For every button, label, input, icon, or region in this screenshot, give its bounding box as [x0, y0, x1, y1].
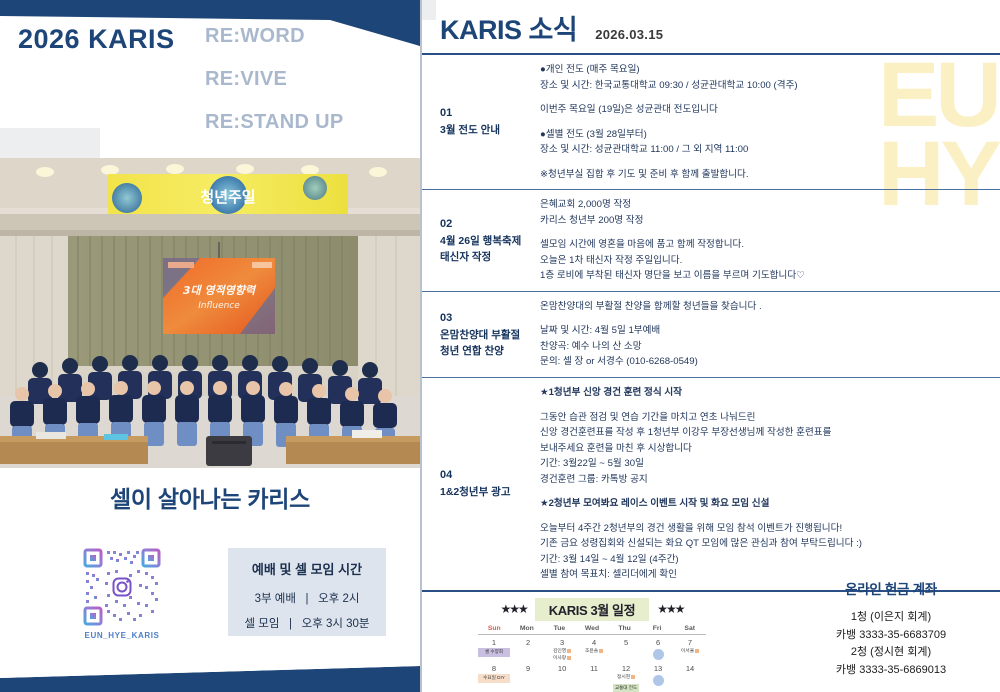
news-line: 카리스 청년부 200명 작정	[540, 213, 988, 229]
re-item-1: RE:VIVE	[205, 69, 344, 89]
march-calendar: ★★★ KARIS 3월 일정 ★★★ Sun Mon Tue Wed Thu …	[478, 598, 706, 692]
youth-group-photo: 청년주일	[0, 158, 420, 468]
calendar-day-cell: 11	[578, 661, 610, 692]
calendar-day-cell: 10	[546, 661, 578, 692]
calendar-day-number: 9	[510, 664, 546, 673]
calendar-day-cell: 4조윤솔	[578, 635, 610, 661]
calendar-event-chip: 셀 수양회	[478, 648, 510, 657]
stars-right-icon: ★★★	[657, 603, 683, 615]
qr-code[interactable]	[83, 548, 161, 626]
news-row: 02 4월 26일 행복축제 태신자 작정 은혜교회 2,000명 작정 카리스…	[422, 190, 1000, 292]
calendar-day-cell: 3김인영이사랑	[546, 635, 578, 661]
calendar-day-cell: 8수요일 DIY	[478, 661, 510, 692]
news-line: ※청년부실 집합 후 기도 및 준비 후 함께 출발합니다.	[540, 167, 988, 183]
spacer	[540, 512, 988, 521]
calendar-day-cell: 9	[510, 661, 546, 692]
calendar-day-number: 13	[642, 664, 674, 673]
calendar-header: ★★★ KARIS 3월 일정 ★★★	[478, 598, 706, 621]
worship-time-value-0: 오후 2시	[318, 593, 359, 605]
newsletter-page: 2026 KARIS RE:WORD RE:VIVE RE:STAND UP	[0, 0, 1000, 692]
worship-time-name-0: 3부 예배	[255, 593, 296, 605]
news-row-number: 01	[440, 105, 540, 122]
news-line: 오늘은 1차 태신자 작정 주일입니다.	[540, 253, 988, 269]
offering-line: 2청 (정시현 회계)	[796, 644, 986, 662]
news-row-number: 04	[440, 467, 540, 484]
calendar-day-cell: 2	[510, 635, 546, 661]
calendar-day-number: 4	[578, 638, 610, 647]
worship-time-sep-0: |	[306, 593, 309, 605]
calendar-dow: Sat	[673, 625, 706, 632]
news-line: 기존 금요 성령집회와 신설되는 화요 QT 모임에 많은 관심과 참여 부탁드…	[540, 536, 988, 552]
instagram-qr-block[interactable]: EUN_HYE_KARIS	[62, 548, 182, 640]
news-row-index: 01 3월 전도 안내	[422, 55, 540, 189]
news-line: 신앙 경건훈련표를 작성 후 1청년부 이강우 부장선생님께 작성한 훈련표를	[540, 425, 988, 441]
news-row-body: ★1청년부 신앙 경건 훈련 정식 시작 그동안 습관 점검 및 연습 기간을 …	[540, 378, 1000, 590]
news-line: 1층 로비에 부착된 태신자 명단을 보고 이름을 부르며 기도합니다♡	[540, 268, 988, 284]
calendar-day-number: 1	[478, 638, 510, 647]
calendar-day-number: 11	[578, 664, 610, 673]
worship-time-row-0: 3부 예배 | 오후 2시	[236, 590, 378, 606]
calendar-dow: Thu	[608, 625, 641, 632]
page-title: 2026 KARIS	[18, 26, 175, 53]
calendar-grid: 1셀 수양회23김인영이사랑4조윤솔567이서율8수요일 DIY9101112정…	[478, 635, 706, 692]
news-row: 04 1&2청년부 광고 ★1청년부 신앙 경건 훈련 정식 시작 그동안 습관…	[422, 378, 1000, 592]
svg-text:3대 영적영향력: 3대 영적영향력	[183, 284, 257, 297]
calendar-day-cell: 6	[642, 635, 674, 661]
worship-times-box: 예배 및 셀 모임 시간 3부 예배 | 오후 2시 셀 모임 | 오후 3시 …	[228, 548, 386, 636]
offering-title: 온라인 헌금 계좌	[796, 578, 986, 598]
spacer	[540, 487, 988, 496]
news-row-label: 1&2청년부 광고	[440, 484, 540, 500]
spacer	[540, 228, 988, 237]
navy-bottom-decoration	[0, 652, 420, 692]
svg-text:Influence: Influence	[198, 301, 240, 311]
news-row-body: ●개인 전도 (매주 목요일) 장소 및 시간: 한국교통대학교 09:30 /…	[540, 55, 1000, 189]
offering-account-block: 온라인 헌금 계좌 1청 (이은지 회계) 카뱅 3333-35-6683709…	[796, 578, 986, 680]
re-item-0: RE:WORD	[205, 26, 344, 46]
news-row-index: 02 4월 26일 행복축제 태신자 작정	[422, 190, 540, 291]
news-line: 그동안 습관 점검 및 연습 기간을 마치고 연초 나눠드린	[540, 410, 988, 426]
offering-line: 카뱅 3333-35-6683709	[796, 627, 986, 645]
calendar-title: KARIS 3월 일정	[535, 598, 649, 621]
calendar-day-cell: 12정시현교통대 전도	[610, 661, 642, 692]
calendar-birthday-chip: 김인영	[546, 647, 578, 654]
tagline: 셀이 살아나는 카리스	[0, 480, 420, 514]
calendar-day-number: 12	[610, 664, 642, 673]
news-row-label: 3월 전도 안내	[440, 122, 540, 138]
news-table: 01 3월 전도 안내 ●개인 전도 (매주 목요일) 장소 및 시간: 한국교…	[422, 55, 1000, 592]
news-line: 경건훈련 그룹: 카톡방 공지	[540, 472, 988, 488]
instagram-icon	[112, 577, 132, 597]
title-block: 2026 KARIS RE:WORD RE:VIVE RE:STAND UP	[18, 26, 408, 155]
news-line: ●셀별 전도 (3월 28일부터)	[540, 127, 988, 143]
cake-icon	[567, 656, 571, 660]
left-panel: 2026 KARIS RE:WORD RE:VIVE RE:STAND UP	[0, 0, 420, 692]
news-row: 03 온맘찬양대 부활절 청년 연합 찬양 온맘찬양대의 부활절 찬양을 함께할…	[422, 292, 1000, 378]
spacer	[540, 158, 988, 167]
spacer	[540, 401, 988, 410]
calendar-event-chip: 수요일 DIY	[478, 674, 510, 683]
news-row-label: 온맘찬양대 부활절 청년 연합 찬양	[440, 327, 540, 360]
news-line: 오늘부터 4주간 2청년부의 경건 생활을 위해 모임 참석 이벤트가 진행됩니…	[540, 521, 988, 537]
news-row-index: 04 1&2청년부 광고	[422, 378, 540, 590]
calendar-dow: Tue	[543, 625, 576, 632]
news-row-body: 은혜교회 2,000명 작정 카리스 청년부 200명 작정 셀모임 시간에 영…	[540, 190, 1000, 291]
calendar-day-cell: 13	[642, 661, 674, 692]
calendar-event-chip: 교통대 전도	[613, 684, 639, 692]
cake-icon	[631, 675, 635, 679]
news-line: ●개인 전도 (매주 목요일)	[540, 62, 988, 78]
calendar-day-number: 8	[478, 664, 510, 673]
svg-text:청년주일: 청년주일	[200, 188, 255, 206]
news-date: 2026.03.15	[595, 27, 663, 42]
news-row-number: 02	[440, 216, 540, 233]
cake-icon	[695, 649, 699, 653]
calendar-dow: Mon	[511, 625, 544, 632]
calendar-day-number: 10	[546, 664, 578, 673]
calendar-day-number: 6	[642, 638, 674, 647]
news-header: KARIS 소식 2026.03.15	[422, 0, 1000, 55]
calendar-day-cell: 5	[610, 635, 642, 661]
re-theme-list: RE:WORD RE:VIVE RE:STAND UP	[205, 26, 344, 155]
spacer	[540, 314, 988, 323]
friday-prayer-dot-icon	[653, 649, 664, 660]
news-row-index: 03 온맘찬양대 부활절 청년 연합 찬양	[422, 292, 540, 377]
spacer	[540, 93, 988, 102]
cake-icon	[567, 649, 571, 653]
worship-time-row-1: 셀 모임 | 오후 3시 30분	[236, 615, 378, 631]
news-line: 기간: 3월22일 ~ 5월 30일	[540, 456, 988, 472]
calendar-birthday-chip: 이사랑	[546, 654, 578, 661]
news-row-label: 4월 26일 행복축제 태신자 작정	[440, 233, 540, 266]
friday-prayer-dot-icon	[653, 675, 664, 686]
news-row-body: 온맘찬양대의 부활절 찬양을 함께할 청년들을 찾습니다 . 날짜 및 시간: …	[540, 292, 1000, 377]
news-line: ★1청년부 신앙 경건 훈련 정식 시작	[540, 385, 988, 401]
calendar-day-number: 3	[546, 638, 578, 647]
news-line: 문의: 셀 장 or 서경수 (010-6268-0549)	[540, 354, 988, 370]
re-item-2: RE:STAND UP	[205, 112, 344, 132]
news-line: 셀모임 시간에 영혼을 마음에 품고 함께 작정합니다.	[540, 237, 988, 253]
calendar-birthday-chip: 정시현	[610, 673, 642, 680]
news-line: 보내주세요 훈련을 마친 후 시상합니다	[540, 441, 988, 457]
qr-label: EUN_HYE_KARIS	[62, 631, 182, 640]
news-line: 찬양곡: 예수 나의 산 소망	[540, 339, 988, 355]
calendar-day-number: 14	[674, 664, 706, 673]
spacer	[540, 118, 988, 127]
calendar-dow: Sun	[478, 625, 511, 632]
calendar-dow: Fri	[641, 625, 674, 632]
news-line: 장소 및 시간: 한국교통대학교 09:30 / 성균관대학교 10:00 (격…	[540, 78, 988, 94]
offering-line: 카뱅 3333-35-6869013	[796, 662, 986, 680]
offering-line: 1청 (이은지 회계)	[796, 609, 986, 627]
news-row-number: 03	[440, 310, 540, 327]
calendar-weekday-header: Sun Mon Tue Wed Thu Fri Sat	[478, 625, 706, 635]
calendar-day-cell: 7이서율	[674, 635, 706, 661]
worship-times-title: 예배 및 셀 모임 시간	[236, 559, 378, 578]
right-panel: EUN HYE KARIS 소식 2026.03.15 01 3월 전도 안내 …	[422, 0, 1000, 692]
stars-left-icon: ★★★	[501, 603, 527, 615]
calendar-day-number: 5	[610, 638, 642, 647]
news-line: 기간: 3월 14일 ~ 4월 12일 (4주간)	[540, 552, 988, 568]
news-row: 01 3월 전도 안내 ●개인 전도 (매주 목요일) 장소 및 시간: 한국교…	[422, 55, 1000, 190]
news-line: ★2청년부 모여봐요 레이스 이벤트 시작 및 화요 모임 신설	[540, 496, 988, 512]
news-line: 은혜교회 2,000명 작정	[540, 197, 988, 213]
calendar-dow: Wed	[576, 625, 609, 632]
calendar-birthday-chip: 조윤솔	[578, 647, 610, 654]
calendar-birthday-chip: 이서율	[674, 647, 706, 654]
worship-time-name-1: 셀 모임	[244, 618, 279, 630]
cake-icon	[599, 649, 603, 653]
news-title: KARIS 소식	[440, 8, 577, 47]
worship-time-value-1: 오후 3시 30분	[302, 618, 370, 630]
news-line: 온맘찬양대의 부활절 찬양을 함께할 청년들을 찾습니다 .	[540, 299, 988, 315]
calendar-day-cell: 1셀 수양회	[478, 635, 510, 661]
calendar-day-number: 7	[674, 638, 706, 647]
calendar-day-number: 2	[510, 638, 546, 647]
calendar-day-cell: 14	[674, 661, 706, 692]
news-line: 날짜 및 시간: 4월 5일 1부예배	[540, 323, 988, 339]
news-line: 이번주 목요일 (19일)은 성균관대 전도입니다	[540, 102, 988, 118]
worship-time-sep-1: |	[289, 618, 292, 630]
news-line: 장소 및 시간: 성균관대학교 11:00 / 그 외 지역 11:00	[540, 142, 988, 158]
